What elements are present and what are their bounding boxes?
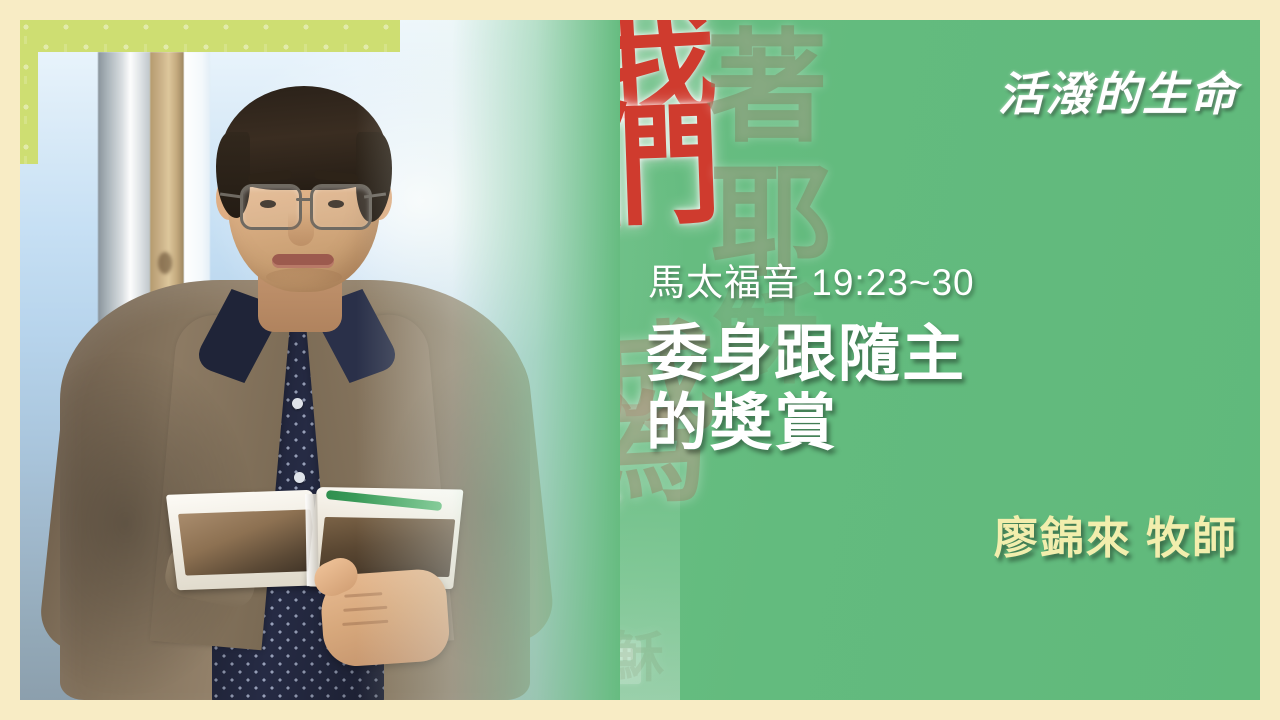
knuckle-line bbox=[342, 620, 388, 626]
video-stage: 我 們 一 家 成 人 為 著 耶 穌 穌 bbox=[20, 20, 1260, 700]
book-page-left-image bbox=[178, 509, 318, 575]
sermon-title-slide: 我 們 一 家 成 人 為 著 耶 穌 穌 bbox=[0, 0, 1280, 720]
speaker-photo bbox=[20, 20, 620, 700]
program-brand-title: 活潑的生命 bbox=[998, 58, 1238, 124]
open-book bbox=[172, 488, 456, 608]
speaker-name: 廖錦來 牧師 bbox=[994, 502, 1238, 566]
sermon-title-line-1: 委身跟隨主 bbox=[646, 320, 966, 389]
eyeglasses-lens-right bbox=[310, 184, 372, 230]
lime-panel-left bbox=[20, 20, 38, 164]
eyeglasses-bridge bbox=[296, 198, 312, 201]
knuckle-line bbox=[344, 592, 382, 598]
chin-shadow bbox=[266, 268, 342, 286]
bg-calligraphy-char-zhe: 著 bbox=[706, 26, 828, 148]
scripture-reference: 馬太福音 19:23~30 bbox=[648, 252, 975, 306]
speaker-figure bbox=[60, 80, 540, 700]
knuckle-line bbox=[343, 606, 387, 612]
sermon-title: 委身跟隨主 的獎賞 bbox=[646, 320, 966, 459]
mouth bbox=[272, 254, 334, 268]
sermon-title-line-2: 的獎賞 bbox=[646, 389, 966, 458]
nose bbox=[288, 212, 314, 246]
lime-panel-top bbox=[20, 20, 400, 52]
